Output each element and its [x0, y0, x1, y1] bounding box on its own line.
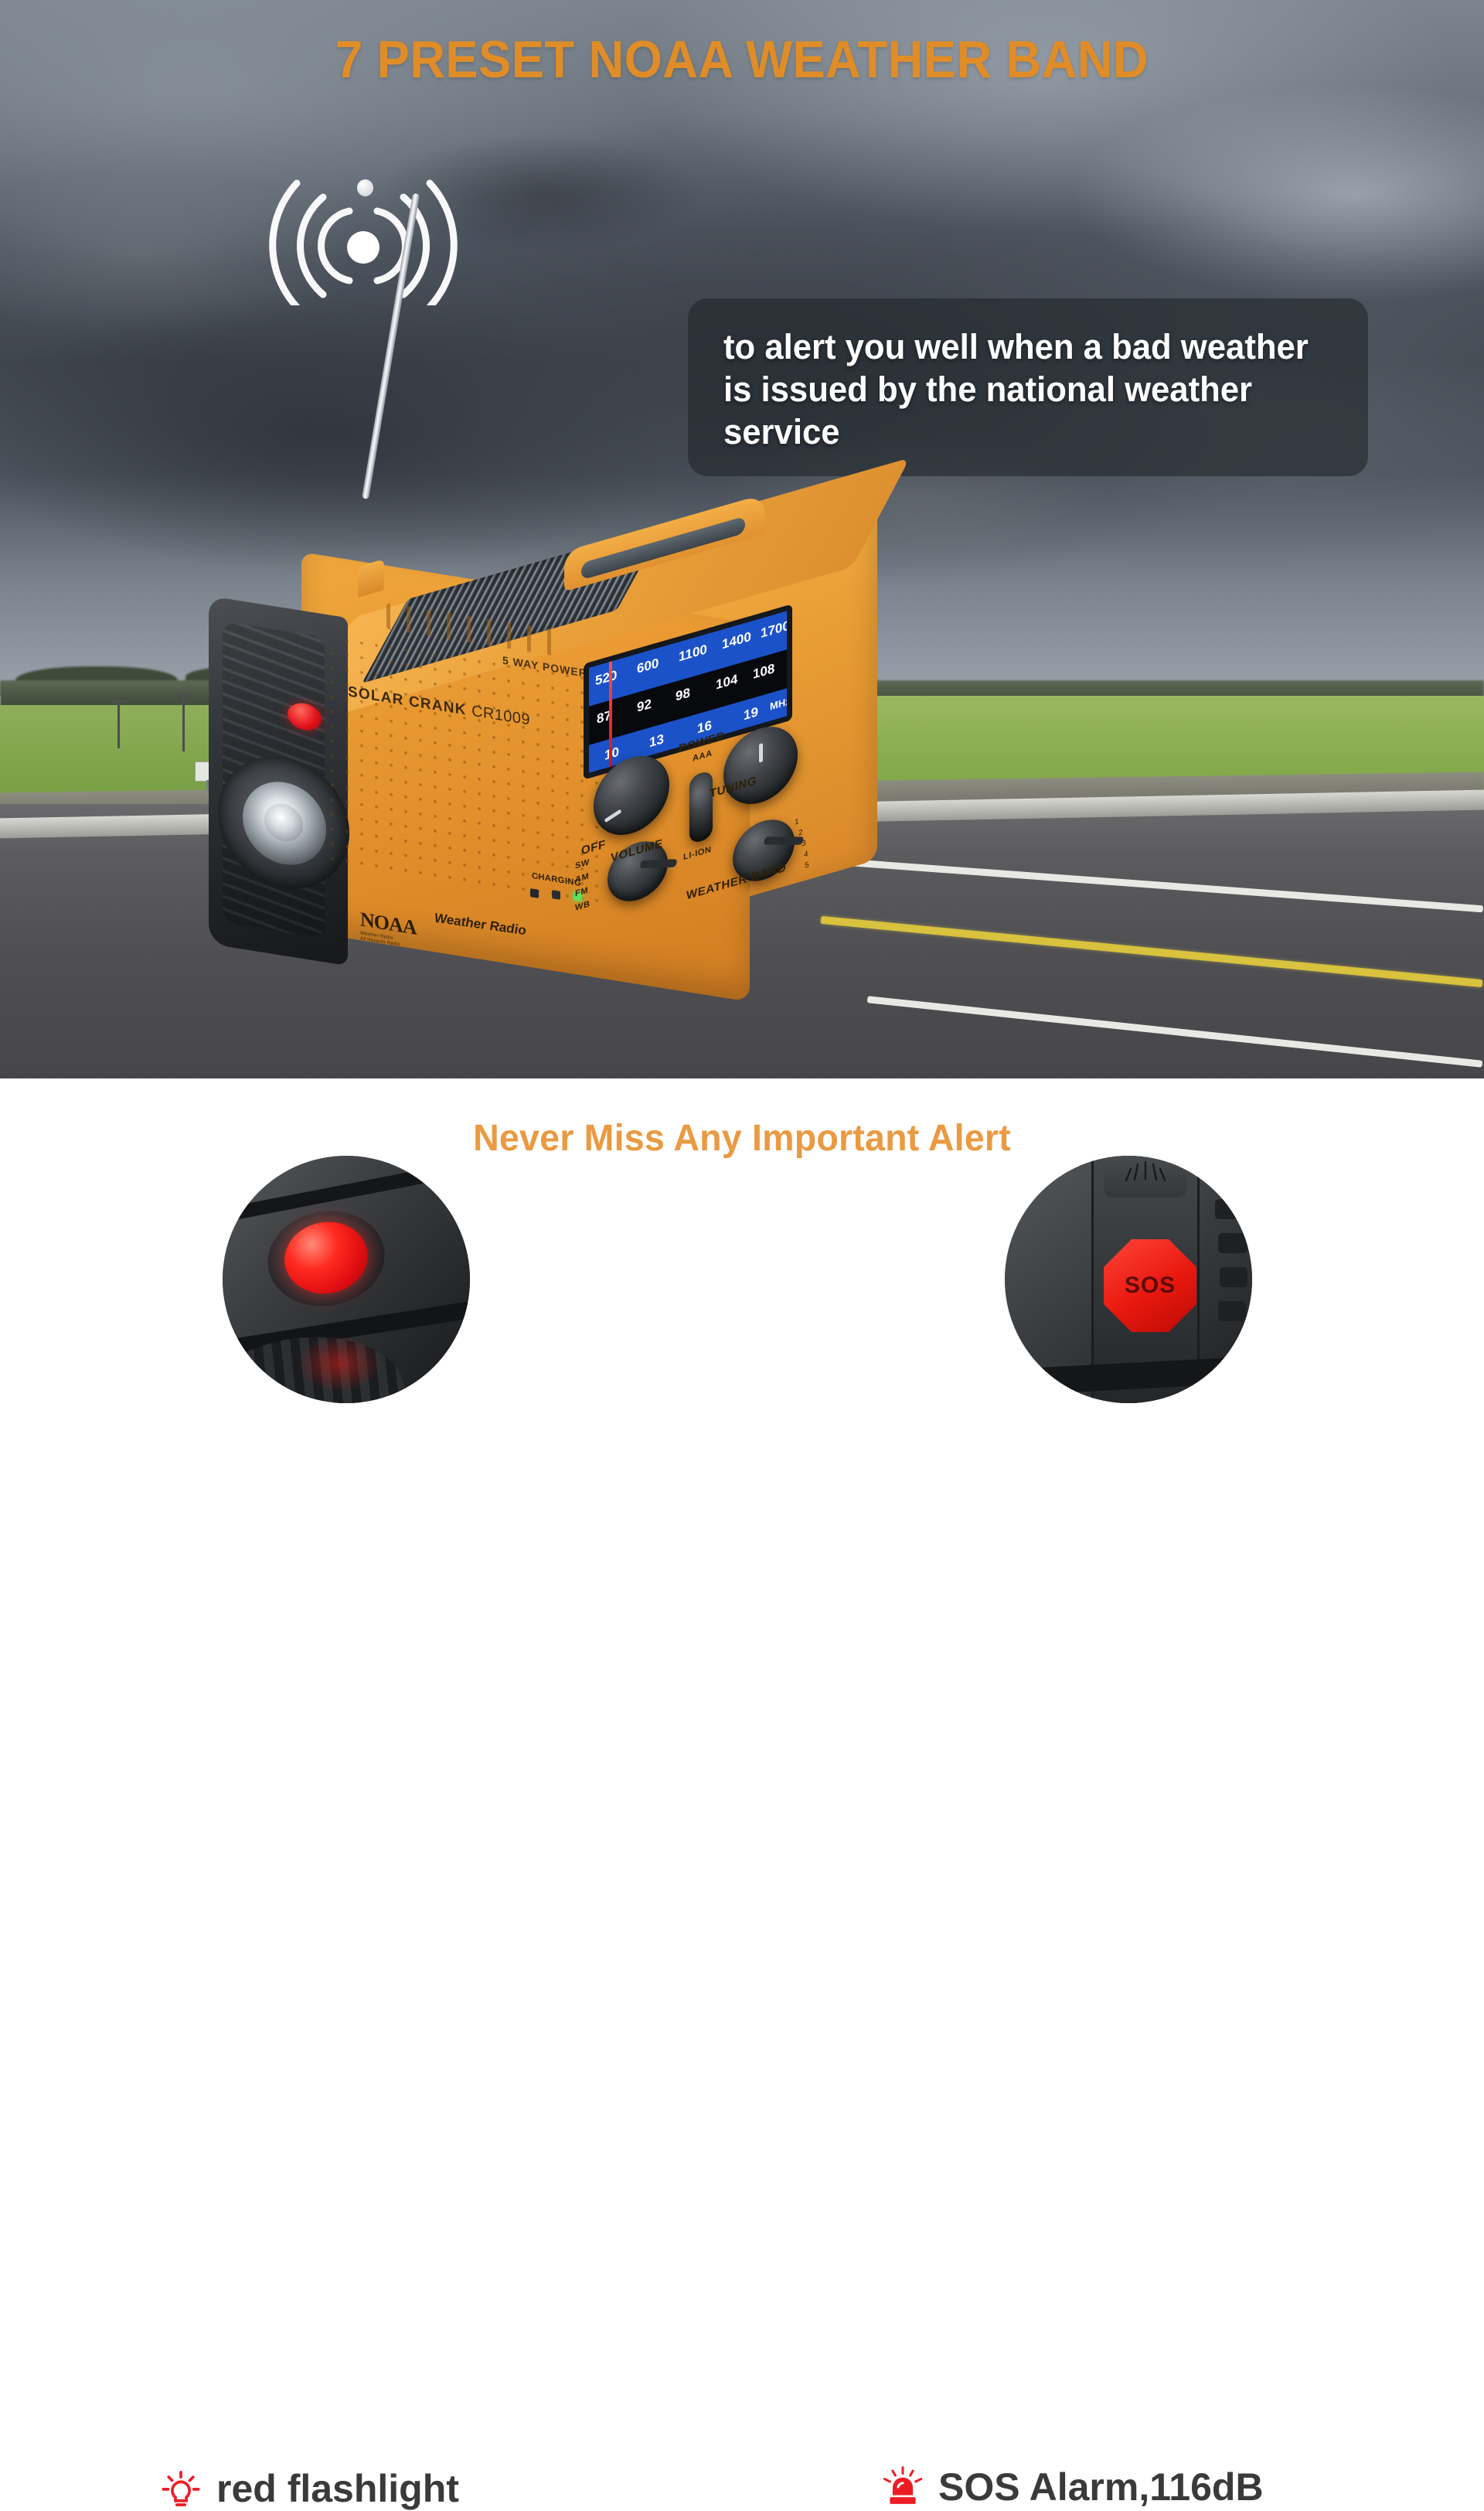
broadcast-signal-waves-icon: [232, 143, 495, 305]
fm-tick-1: 92: [637, 696, 652, 715]
fm-tick-4: 108: [753, 661, 774, 683]
red-flashlight-closeup: [223, 1156, 470, 1403]
am-tick-4: 1700: [761, 618, 790, 642]
feature-caption-sos: SOS Alarm,116dB: [881, 2465, 1264, 2509]
sw-tick-1: 13: [649, 731, 664, 751]
charging-led-1: [530, 888, 539, 898]
tuning-needle: [609, 661, 612, 778]
sos-grip-rib-1: [1215, 1199, 1244, 1219]
red-button-glow: [297, 1335, 382, 1392]
preset-number-1: 1: [795, 817, 799, 827]
utility-pole-2: [117, 700, 120, 748]
speaker-grill: [331, 636, 609, 912]
volume-knob-marker: [604, 809, 621, 823]
sw-tick-3: 19: [744, 704, 758, 724]
sos-button-closeup[interactable]: SOS: [1104, 1239, 1196, 1332]
tuning-knob-marker: [759, 743, 763, 762]
speaker-lines-icon: [1122, 1159, 1169, 1185]
preset-number-4: 4: [804, 850, 808, 860]
storm-road-scene: 7 PRESET NOAA WEATHER BAND to alert you …: [0, 0, 1484, 1078]
fm-tick-3: 104: [716, 672, 737, 693]
sos-grip-rib-2: [1218, 1233, 1247, 1253]
sos-grip-rib-3: [1220, 1267, 1247, 1287]
utility-pole-1: [182, 694, 185, 751]
feature-highlight-section: Never Miss Any Important Alert SOS: [0, 1078, 1484, 1484]
radio-shell: SOLAR CRANK CR1009 5 WAY POWERED NOAA We…: [232, 526, 1005, 990]
preset-number-3: 3: [802, 839, 806, 849]
feature-label-flashlight: red flashlight: [216, 2466, 459, 2511]
preset-number-5: 5: [805, 860, 809, 871]
lightbulb-icon: [159, 2467, 203, 2510]
power-source-switch[interactable]: [689, 770, 713, 845]
feature-label-sos: SOS Alarm,116dB: [938, 2465, 1264, 2509]
charging-led-2: [552, 890, 560, 900]
am-tick-2: 1100: [679, 642, 707, 666]
page-title: 7 PRESET NOAA WEATHER BAND: [52, 29, 1432, 90]
am-tick-1: 600: [637, 656, 659, 677]
sos-button-text: SOS: [1125, 1273, 1176, 1299]
antenna-tip: [357, 179, 373, 196]
siren-icon: [881, 2465, 924, 2509]
sw-unit: MHz: [770, 695, 791, 713]
feature-caption-flashlight: red flashlight: [159, 2466, 459, 2511]
am-tick-3: 1400: [722, 629, 751, 653]
am-tick-0: 520: [595, 667, 617, 689]
weather-radio-product: SOLAR CRANK CR1009 5 WAY POWERED NOAA We…: [232, 433, 1005, 1078]
preset-number-2: 2: [798, 828, 803, 838]
band-knob-pointer: [640, 859, 678, 868]
fm-tick-2: 98: [676, 685, 690, 704]
section-subheading: Never Miss Any Important Alert: [22, 1117, 1462, 1160]
sos-button-closeup: SOS: [1005, 1156, 1252, 1403]
sos-grip-rib-4: [1218, 1301, 1246, 1321]
